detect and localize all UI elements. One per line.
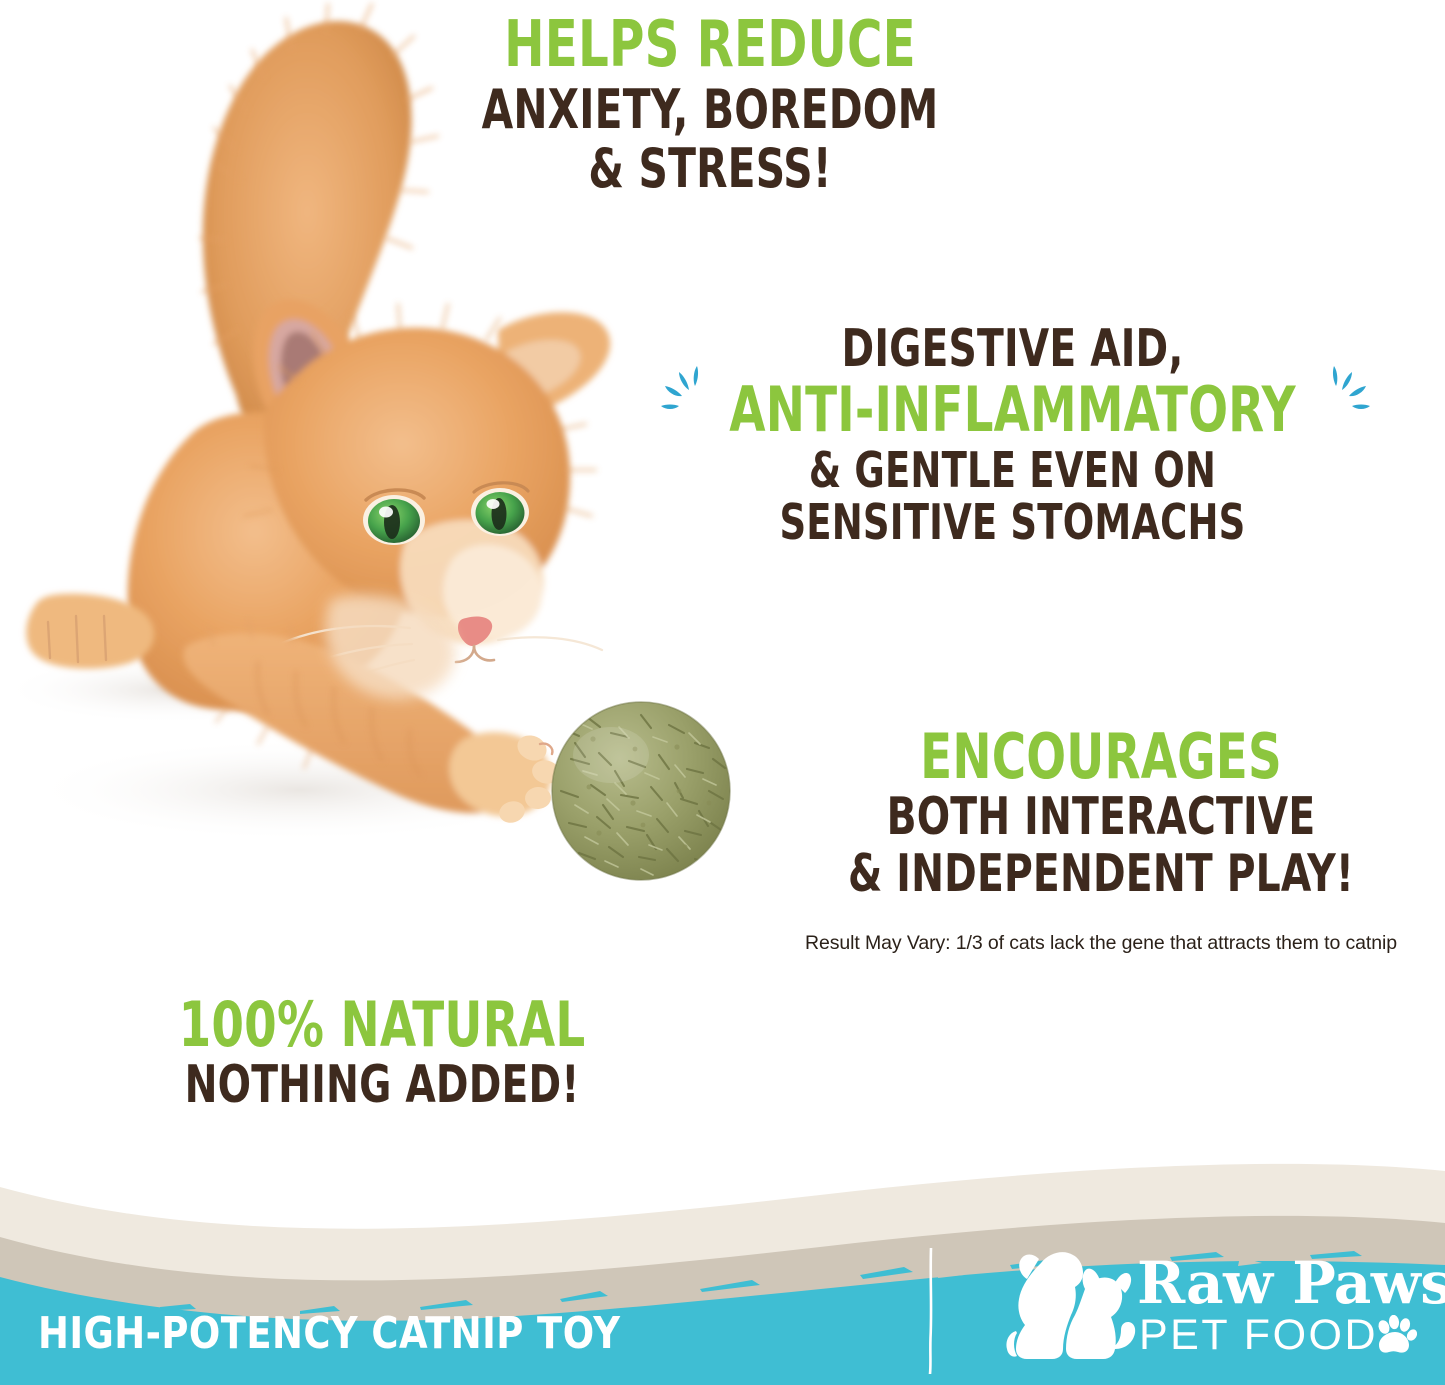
benefit-line: & STRESS! — [466, 142, 953, 195]
benefit-line: DIGESTIVE AID, — [704, 324, 1321, 375]
benefit-helps-reduce: HELPS REDUCE ANXIETY, BOREDOM & STRESS! — [420, 14, 1000, 195]
benefit-line: ANXIETY, BOREDOM — [466, 83, 953, 136]
benefit-line: NOTHING ADDED! — [155, 1060, 609, 1111]
benefit-encourages-play: ENCOURAGES BOTH INTERACTIVE & INDEPENDEN… — [795, 726, 1407, 900]
banner-tagline: HIGH-POTENCY CATNIP TOY — [38, 1308, 620, 1359]
catnip-ball-product — [549, 699, 733, 883]
brand-name-text: Raw Paws — [1137, 1249, 1445, 1317]
benefit-line: BOTH INTERACTIVE — [844, 792, 1358, 843]
benefit-line: HELPS REDUCE — [466, 14, 953, 77]
sparkle-burst-icon — [1318, 362, 1374, 424]
brand-wordmark: Raw Paws® PET FOOD — [1137, 1249, 1427, 1367]
benefit-natural: 100% NATURAL NOTHING ADDED! — [112, 994, 652, 1112]
benefit-line: & INDEPENDENT PLAY! — [844, 849, 1358, 900]
dog-and-cat-silhouette-icon — [1005, 1245, 1137, 1369]
benefit-line: ANTI-INFLAMMATORY — [704, 379, 1321, 440]
brand-name: Raw Paws® — [1137, 1249, 1445, 1317]
paw-print-icon — [1375, 1315, 1417, 1355]
brand-subtitle: PET FOOD — [1139, 1311, 1378, 1360]
benefit-line: SENSITIVE STOMACHS — [704, 499, 1321, 548]
sparkle-burst-icon — [657, 362, 713, 424]
catnip-disclaimer: Result May Vary: 1/3 of cats lack the ge… — [795, 932, 1407, 955]
benefit-line: & GENTLE EVEN ON — [704, 447, 1321, 496]
brand-logo: Raw Paws® PET FOOD — [1005, 1243, 1425, 1373]
benefit-line: ENCOURAGES — [844, 726, 1358, 787]
benefit-digestive-aid: DIGESTIVE AID, ANTI-INFLAMMATORY & GENTL… — [645, 324, 1380, 548]
benefit-line: 100% NATURAL — [155, 994, 609, 1055]
product-feature-infographic: HELPS REDUCE ANXIETY, BOREDOM & STRESS! … — [0, 0, 1445, 1385]
banner-divider — [928, 1248, 934, 1374]
